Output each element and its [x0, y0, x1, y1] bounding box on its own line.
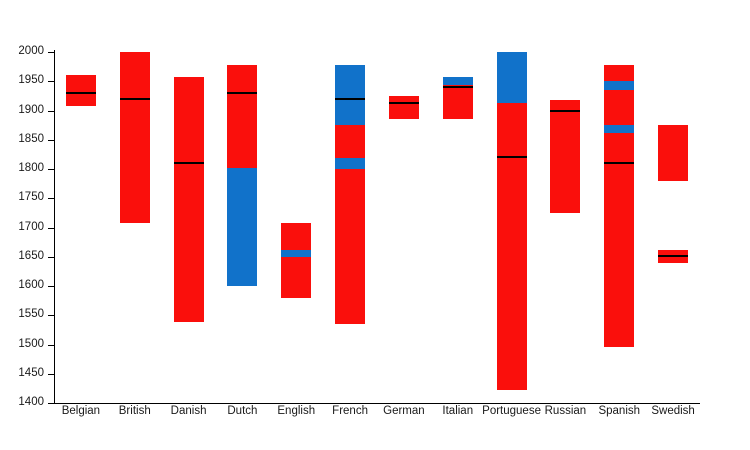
- bar-danish[interactable]: [174, 0, 204, 450]
- y-tick-mark: [48, 81, 54, 82]
- y-tick-mark: [48, 286, 54, 287]
- bar-british[interactable]: [120, 0, 150, 450]
- bar-segment-red: [227, 65, 257, 168]
- median-line: [658, 255, 688, 257]
- y-tick-label: 1900: [18, 105, 44, 116]
- y-tick-label: 1850: [18, 134, 44, 145]
- median-line: [443, 86, 473, 88]
- y-tick-mark: [48, 228, 54, 229]
- y-tick-label: 1450: [18, 368, 44, 379]
- y-tick-mark: [48, 140, 54, 141]
- bar-swedish[interactable]: [658, 0, 688, 450]
- y-tick-label: 1650: [18, 251, 44, 262]
- y-tick-mark: [48, 257, 54, 258]
- y-tick-label: 1600: [18, 280, 44, 291]
- bar-german[interactable]: [389, 0, 419, 450]
- y-tick-label: 2000: [18, 46, 44, 57]
- bar-segment-red: [658, 125, 688, 181]
- bar-portuguese[interactable]: [497, 0, 527, 450]
- median-line: [174, 162, 204, 164]
- bar-segment-blue: [604, 125, 634, 133]
- bar-segment-red: [281, 223, 311, 250]
- bar-segment-red: [550, 100, 580, 213]
- y-tick-mark: [48, 403, 54, 404]
- bar-segment-blue: [227, 168, 257, 286]
- bar-english[interactable]: [281, 0, 311, 450]
- bar-segment-blue: [604, 81, 634, 90]
- median-line: [120, 98, 150, 100]
- bar-segment-red: [174, 77, 204, 323]
- median-line: [335, 98, 365, 100]
- x-axis-line: [54, 403, 700, 404]
- bar-segment-red: [66, 75, 96, 105]
- bar-segment-red: [281, 257, 311, 298]
- y-tick-label: 1700: [18, 222, 44, 233]
- bar-italian[interactable]: [443, 0, 473, 450]
- bar-belgian[interactable]: [66, 0, 96, 450]
- bar-chart: 1400145015001550160016501700175018001850…: [0, 0, 750, 450]
- bar-segment-red: [604, 133, 634, 348]
- bar-segment-red: [120, 52, 150, 223]
- bar-segment-red: [443, 85, 473, 120]
- y-tick-label: 1950: [18, 75, 44, 86]
- bar-segment-red: [335, 169, 365, 324]
- bar-segment-blue: [335, 65, 365, 125]
- median-line: [227, 92, 257, 94]
- bar-segment-red: [335, 125, 365, 158]
- y-tick-mark: [48, 111, 54, 112]
- bar-segment-red: [604, 90, 634, 125]
- y-axis-line: [54, 50, 55, 404]
- bar-segment-red: [497, 103, 527, 390]
- y-tick-label: 1500: [18, 339, 44, 350]
- bar-segment-red: [389, 96, 419, 119]
- bar-russian[interactable]: [550, 0, 580, 450]
- y-tick-label: 1550: [18, 309, 44, 320]
- bar-segment-blue: [497, 52, 527, 103]
- median-line: [497, 156, 527, 158]
- bar-dutch[interactable]: [227, 0, 257, 450]
- y-tick-mark: [48, 198, 54, 199]
- bar-segment-blue: [281, 250, 311, 257]
- y-tick-mark: [48, 374, 54, 375]
- bar-segment-red: [604, 65, 634, 81]
- y-tick-mark: [48, 345, 54, 346]
- median-line: [550, 110, 580, 112]
- y-tick-label: 1750: [18, 192, 44, 203]
- y-tick-mark: [48, 52, 54, 53]
- bar-segment-blue: [335, 158, 365, 169]
- median-line: [389, 102, 419, 104]
- bar-spanish[interactable]: [604, 0, 634, 450]
- median-line: [66, 92, 96, 94]
- bar-segment-blue: [443, 77, 473, 85]
- y-tick-label: 1800: [18, 163, 44, 174]
- y-tick-mark: [48, 315, 54, 316]
- bar-french[interactable]: [335, 0, 365, 450]
- median-line: [604, 162, 634, 164]
- y-tick-mark: [48, 169, 54, 170]
